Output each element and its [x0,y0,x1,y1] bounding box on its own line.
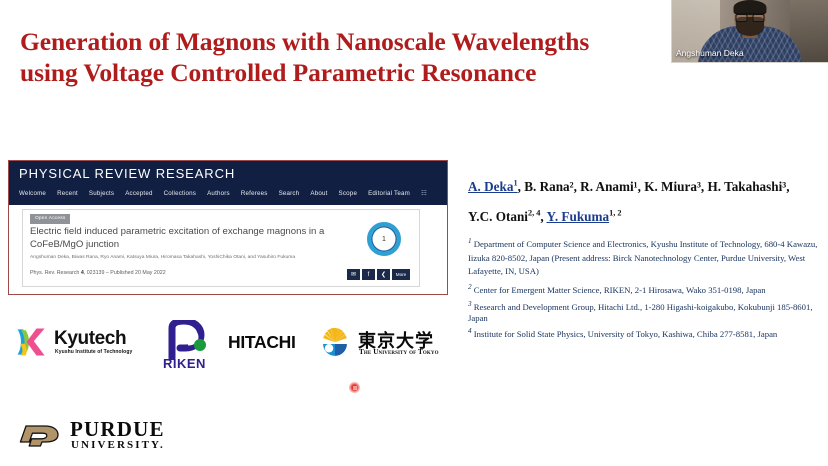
kyutech-mark-icon [14,324,50,360]
title-line-1: Generation of Magnons with Nanoscale Wav… [20,26,670,57]
affiliation-1-text: Department of Computer Science and Elect… [468,239,817,276]
riken-mark-icon [160,320,218,360]
purdue-subtitle: UNIVERSITY. [71,439,165,451]
nav-item-editorial-team[interactable]: Editorial Team [368,190,410,197]
logo-purdue: PURDUE UNIVERSITY. [18,415,178,457]
author-link-deka-text: A. Deka [468,179,513,194]
webcam-participant-name: Angshuman Deka [676,48,744,58]
nav-item-recent[interactable]: Recent [57,190,78,197]
laser-pointer-cursor [349,382,360,393]
riken-wordmark: RIKEN [163,356,206,371]
journal-header: PHYSICAL REVIEW RESEARCH Welcome Recent … [9,161,447,205]
webcam-video-overlay[interactable]: Angshuman Deka [671,0,828,63]
author-otani: Y.C. Otani [468,209,528,224]
affiliation-1: 1 Department of Computer Science and Ele… [468,238,824,279]
citation-journal: Phys. Rev. Research [30,270,79,276]
nav-item-search[interactable]: Search [279,190,300,197]
share-icon[interactable]: ❮ [377,269,390,280]
glasses-icon [736,13,765,21]
nav-item-collections[interactable]: Collections [164,190,196,197]
article-authors: Angshuman Deka, Biwas Rana, Ryo Anami, K… [30,255,330,261]
affiliation-2-mark: 2 [468,283,472,291]
presentation-slide: Generation of Magnons with Nanoscale Wav… [0,0,828,466]
journal-nav: Welcome Recent Subjects Accepted Collect… [19,189,427,197]
journal-brand-title: PHYSICAL REVIEW RESEARCH [19,166,235,181]
open-access-badge: Open Access [30,214,70,224]
nav-item-welcome[interactable]: Welcome [19,190,46,197]
logo-hitachi: HITACHI [228,332,298,356]
kyutech-wordmark: Kyutech [54,328,126,350]
more-icon[interactable]: More [392,269,410,280]
affiliations-list: 1 Department of Computer Science and Ele… [468,238,824,347]
nav-item-accepted[interactable]: Accepted [125,190,152,197]
nav-item-subjects[interactable]: Subjects [89,190,114,197]
twitter-icon[interactable]: ✉ [347,269,360,280]
kyutech-subtitle: Kyushu Institute of Technology [55,349,132,355]
author-line-2: Y.C. Otani2, 4, Y. Fukuma1, 2 [468,202,820,232]
affiliation-2-text: Center for Emergent Matter Science, RIKE… [474,285,766,295]
affiliation-4-mark: 4 [468,327,472,335]
author-link-deka[interactable]: A. Deka1 [468,179,518,194]
citation-rest: , 023139 – Published 20 May 2022 [84,270,166,276]
nav-item-scope[interactable]: Scope [339,190,358,197]
authors-list: A. Deka1, B. Rana², R. Anami¹, K. Miura³… [468,172,820,232]
affiliation-1-mark: 1 [468,237,472,245]
slide-title: Generation of Magnons with Nanoscale Wav… [20,26,670,88]
logo-kyutech: Kyutech Kyushu Institute of Technology [14,322,164,364]
nav-item-referees[interactable]: Referees [241,190,268,197]
author-link-fukuma-text: Y. Fukuma [547,209,610,224]
article-card: Open Access Electric field induced param… [22,209,420,287]
logo-riken: RIKEN [160,320,222,372]
article-citation: Phys. Rev. Research 4, 023139 – Publishe… [30,270,166,277]
rss-icon[interactable]: ☷ [421,189,427,197]
article-title[interactable]: Electric field induced parametric excita… [30,226,330,251]
altmetric-badge[interactable]: 1 [367,222,401,256]
nav-item-authors[interactable]: Authors [207,190,230,197]
social-share-row: ✉ f ❮ More [347,269,410,280]
logo-utokyo: 東京大学 The University of Tokyo [318,324,446,364]
author-fukuma-affil-mark: 1, 2 [609,209,621,218]
title-line-2: using Voltage Controlled Parametric Reso… [20,57,670,88]
affiliation-3-text: Research and Development Group, Hitachi … [468,302,813,323]
hitachi-wordmark: HITACHI [228,332,298,353]
facebook-icon[interactable]: f [362,269,375,280]
author-line-1: A. Deka1, B. Rana², R. Anami¹, K. Miura³… [468,172,820,202]
author-line-1-rest: , B. Rana², R. Anami¹, K. Miura³, H. Tak… [518,179,790,194]
affiliation-4: 4 Institute for Solid State Physics, Uni… [468,328,824,342]
journal-screenshot-panel: PHYSICAL REVIEW RESEARCH Welcome Recent … [8,160,448,295]
utokyo-mark-icon [318,327,352,361]
affiliation-2: 2 Center for Emergent Matter Science, RI… [468,284,824,298]
affiliation-3: 3 Research and Development Group, Hitach… [468,302,824,323]
affiliation-4-text: Institute for Solid State Physics, Unive… [474,329,778,339]
nav-item-about[interactable]: About [310,190,327,197]
author-otani-affil-mark: 2, 4 [528,209,540,218]
affiliation-3-mark: 3 [468,300,472,308]
purdue-p-icon [18,419,66,449]
author-link-fukuma[interactable]: Y. Fukuma [547,209,610,224]
utokyo-wordmark-en: The University of Tokyo [359,348,439,356]
